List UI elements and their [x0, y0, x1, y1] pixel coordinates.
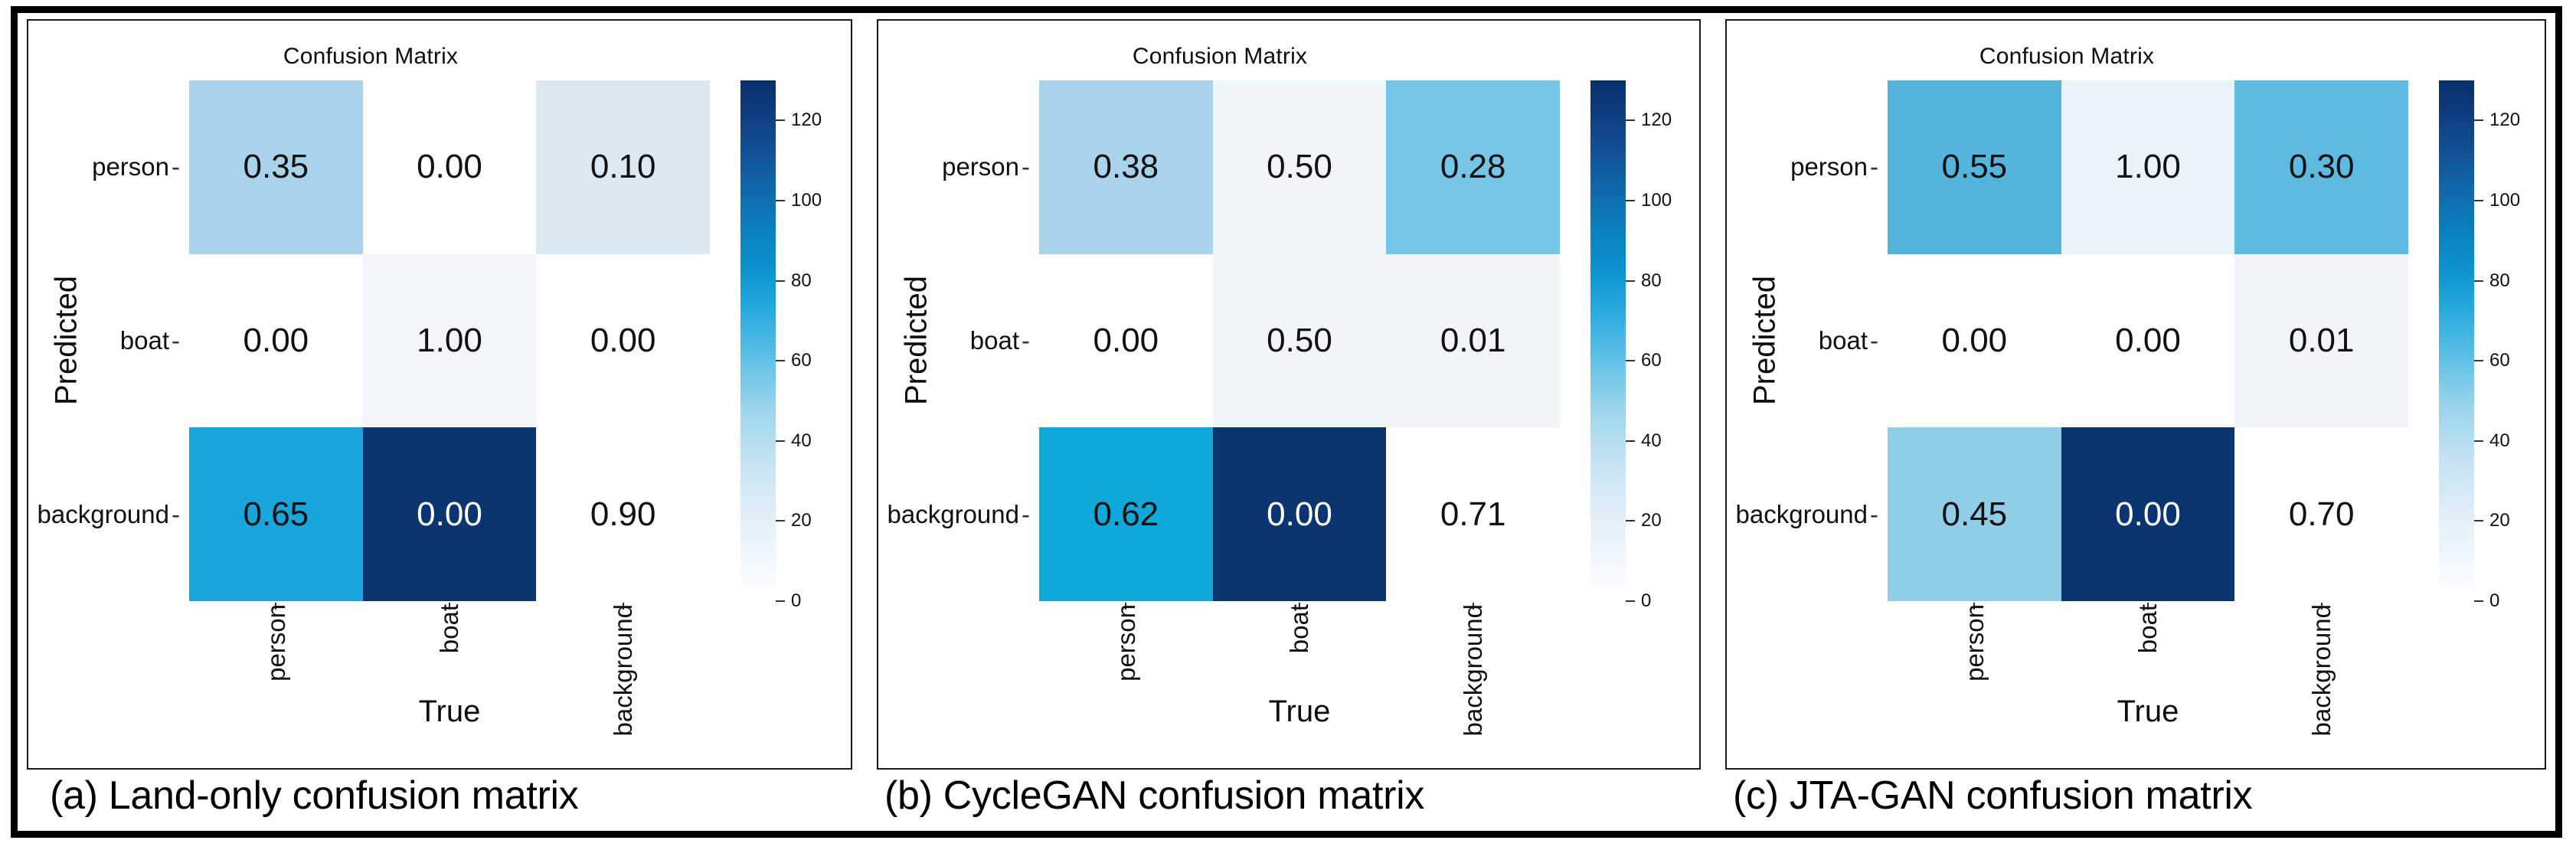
colorbar-tick: 0: [1626, 590, 1651, 612]
y-tick-background: background-: [28, 427, 183, 601]
x-axis-title: True: [1888, 695, 2408, 729]
colorbar-tick-label: 20: [2489, 510, 2510, 531]
tick-dash-icon: -: [169, 152, 180, 181]
chart-title: Confusion Matrix: [28, 44, 713, 70]
tick-mark-icon: [2474, 280, 2483, 282]
colorbar-tick: 100: [2474, 190, 2520, 211]
colorbar-tick: 100: [776, 190, 822, 211]
heat-cell: 0.00: [2061, 254, 2235, 428]
tick-mark-icon: [776, 360, 785, 361]
y-tick-person: person-: [1727, 80, 1881, 254]
heat-cell: 0.00: [189, 254, 363, 428]
colorbar-tick: 60: [1626, 350, 1662, 371]
heat-cell: 1.00: [2061, 80, 2235, 254]
colorbar-tick-label: 80: [791, 270, 812, 292]
tick-mark-icon: [1626, 600, 1635, 602]
heat-cell: 0.45: [1888, 427, 2061, 601]
tick-mark-icon: [776, 600, 785, 602]
heat-cell: 0.28: [1386, 80, 1560, 254]
heat-cell: 0.00: [536, 254, 710, 428]
heat-cell: 0.35: [189, 80, 363, 254]
y-tick-labels: person- boat- background-: [1727, 80, 1881, 601]
panel-a: Confusion Matrix Predicted person- boat-…: [27, 19, 852, 831]
y-tick-label: person: [1790, 152, 1868, 181]
colorbar-tick-label: 20: [1641, 510, 1662, 531]
tick-mark-icon: [1626, 520, 1635, 521]
heat-cell: 0.50: [1213, 80, 1387, 254]
heat-cell: 0.00: [1039, 254, 1213, 428]
tick-mark-icon: [776, 520, 785, 521]
tick-mark-icon: [776, 280, 785, 282]
colorbar-tick-label: 60: [791, 350, 812, 371]
colorbar-gradient: [740, 80, 776, 601]
heat-cell: 0.10: [536, 80, 710, 254]
colorbar-tick-label: 0: [791, 590, 801, 612]
heat-cell: 0.01: [1386, 254, 1560, 428]
tick-mark-icon: [2474, 200, 2483, 201]
tick-mark-icon: [2474, 119, 2483, 121]
colorbar-tick-label: 100: [1641, 190, 1672, 211]
colorbar-tick-label: 20: [791, 510, 812, 531]
colorbar: 020406080100120: [2439, 80, 2546, 601]
x-axis-title: True: [189, 695, 710, 729]
tick-mark-icon: [1626, 200, 1635, 201]
heat-cell: 0.30: [2234, 80, 2408, 254]
x-tick-label: person: [263, 604, 289, 682]
y-tick-label: person: [92, 152, 169, 181]
x-tick-label: person: [1962, 604, 1987, 682]
heatmap-area: 0.35 0.00 0.10 0.00 1.00 0.00 0.65 0.00 …: [189, 80, 710, 601]
x-tick-label: boat: [1286, 604, 1312, 653]
tick-mark-icon: [1626, 119, 1635, 121]
y-tick-label: boat: [1819, 326, 1868, 355]
colorbar-tick: 120: [776, 110, 822, 131]
x-tick-label: boat: [436, 604, 462, 653]
y-tick-label: person: [942, 152, 1019, 181]
colorbar-tick-label: 40: [2489, 430, 2510, 452]
tick-dash-icon: -: [1019, 500, 1030, 529]
colorbar-tick: 80: [1626, 270, 1662, 292]
colorbar-tick: 40: [776, 430, 812, 452]
tick-mark-icon: [1626, 440, 1635, 442]
heatmap-area: 0.38 0.50 0.28 0.00 0.50 0.01 0.62 0.00 …: [1039, 80, 1560, 601]
tick-mark-icon: [1626, 280, 1635, 282]
heat-cell: 0.65: [189, 427, 363, 601]
y-tick-boat: boat-: [1727, 254, 1881, 428]
figure-outer-frame: Confusion Matrix Predicted person- boat-…: [11, 6, 2562, 838]
heat-cell: 0.00: [2061, 427, 2235, 601]
colorbar-tick: 60: [2474, 350, 2510, 371]
heat-cell: 0.00: [1213, 427, 1387, 601]
panel-c-plot-box: Confusion Matrix Predicted person- boat-…: [1725, 19, 2546, 770]
colorbar-tick: 20: [1626, 510, 1662, 531]
colorbar-ticks: 020406080100120: [2474, 80, 2546, 601]
heat-cell: 0.70: [2234, 427, 2408, 601]
colorbar-tick-label: 40: [1641, 430, 1662, 452]
heat-cell: 0.55: [1888, 80, 2061, 254]
y-tick-person: person-: [28, 80, 183, 254]
tick-mark-icon: [776, 200, 785, 201]
panel-caption: (c) JTA-GAN confusion matrix: [1725, 773, 2554, 819]
y-tick-label: background: [1736, 500, 1868, 529]
y-tick-label: boat: [120, 326, 169, 355]
colorbar-tick-label: 80: [1641, 270, 1662, 292]
panel-b: Confusion Matrix Predicted person- boat-…: [877, 19, 1701, 831]
tick-mark-icon: [2474, 600, 2483, 602]
x-tick-label: boat: [2135, 604, 2160, 653]
y-tick-label: boat: [970, 326, 1019, 355]
tick-mark-icon: [2474, 520, 2483, 521]
colorbar: 020406080100120: [740, 80, 852, 601]
panel-b-plot-box: Confusion Matrix Predicted person- boat-…: [877, 19, 1701, 770]
heat-cell: 0.00: [363, 427, 537, 601]
tick-mark-icon: [776, 440, 785, 442]
heat-cell: 0.50: [1213, 254, 1387, 428]
tick-dash-icon: -: [1019, 326, 1030, 355]
heatmap-grid: 0.55 1.00 0.30 0.00 0.00 0.01 0.45 0.00 …: [1888, 80, 2408, 601]
tick-dash-icon: -: [1868, 152, 1878, 181]
heat-cell: 0.90: [536, 427, 710, 601]
y-tick-label: background: [888, 500, 1019, 529]
tick-dash-icon: -: [1868, 326, 1878, 355]
colorbar-tick: 40: [1626, 430, 1662, 452]
tick-mark-icon: [776, 119, 785, 121]
tick-dash-icon: -: [169, 326, 180, 355]
colorbar-ticks: 020406080100120: [1626, 80, 1701, 601]
panels-row: Confusion Matrix Predicted person- boat-…: [18, 13, 2555, 831]
heatmap-grid: 0.38 0.50 0.28 0.00 0.50 0.01 0.62 0.00 …: [1039, 80, 1560, 601]
colorbar-tick-label: 0: [1641, 590, 1651, 612]
colorbar-ticks: 020406080100120: [776, 80, 852, 601]
y-tick-background: background-: [1727, 427, 1881, 601]
colorbar-tick: 80: [2474, 270, 2510, 292]
y-tick-boat: boat-: [28, 254, 183, 428]
tick-dash-icon: -: [1868, 500, 1878, 529]
colorbar-tick-label: 120: [1641, 110, 1672, 131]
panel-a-plot-box: Confusion Matrix Predicted person- boat-…: [27, 19, 852, 770]
colorbar-tick-label: 60: [1641, 350, 1662, 371]
tick-mark-icon: [2474, 440, 2483, 442]
panel-caption: (b) CycleGAN confusion matrix: [877, 773, 1708, 819]
y-tick-labels: person- boat- background-: [28, 80, 183, 601]
heat-cell: 0.62: [1039, 427, 1213, 601]
tick-dash-icon: -: [169, 500, 180, 529]
y-tick-labels: person- boat- background-: [878, 80, 1033, 601]
colorbar-tick-label: 0: [2489, 590, 2499, 612]
colorbar-tick-label: 120: [2489, 110, 2520, 131]
colorbar-tick-label: 100: [791, 190, 822, 211]
x-axis-title: True: [1039, 695, 1560, 729]
chart-title: Confusion Matrix: [878, 44, 1561, 70]
colorbar: 020406080100120: [1590, 80, 1701, 601]
colorbar-tick: 100: [1626, 190, 1672, 211]
colorbar-tick-label: 80: [2489, 270, 2510, 292]
tick-dash-icon: -: [1019, 152, 1030, 181]
colorbar-tick-label: 100: [2489, 190, 2520, 211]
colorbar-tick: 60: [776, 350, 812, 371]
colorbar-tick: 0: [776, 590, 801, 612]
colorbar-tick: 80: [776, 270, 812, 292]
colorbar-tick: 20: [2474, 510, 2510, 531]
tick-mark-icon: [1626, 360, 1635, 361]
colorbar-gradient: [2439, 80, 2474, 601]
colorbar-tick-label: 60: [2489, 350, 2510, 371]
colorbar-tick: 20: [776, 510, 812, 531]
colorbar-tick: 120: [1626, 110, 1672, 131]
heat-cell: 0.01: [2234, 254, 2408, 428]
heat-cell: 0.00: [1888, 254, 2061, 428]
colorbar-gradient: [1590, 80, 1626, 601]
colorbar-tick-label: 120: [791, 110, 822, 131]
panel-c: Confusion Matrix Predicted person- boat-…: [1725, 19, 2546, 831]
tick-mark-icon: [2474, 360, 2483, 361]
panel-caption: (a) Land-only confusion matrix: [27, 773, 875, 819]
colorbar-tick-label: 40: [791, 430, 812, 452]
x-tick-label: person: [1113, 604, 1139, 682]
colorbar-tick: 0: [2474, 590, 2499, 612]
heat-cell: 0.71: [1386, 427, 1560, 601]
colorbar-tick: 120: [2474, 110, 2520, 131]
y-tick-background: background-: [878, 427, 1033, 601]
y-tick-person: person-: [878, 80, 1033, 254]
y-tick-boat: boat-: [878, 254, 1033, 428]
heat-cell: 0.38: [1039, 80, 1213, 254]
colorbar-tick: 40: [2474, 430, 2510, 452]
heatmap-area: 0.55 1.00 0.30 0.00 0.00 0.01 0.45 0.00 …: [1888, 80, 2408, 601]
heatmap-grid: 0.35 0.00 0.10 0.00 1.00 0.00 0.65 0.00 …: [189, 80, 710, 601]
heat-cell: 0.00: [363, 80, 537, 254]
y-tick-label: background: [38, 500, 169, 529]
heat-cell: 1.00: [363, 254, 537, 428]
chart-title: Confusion Matrix: [1727, 44, 2407, 70]
